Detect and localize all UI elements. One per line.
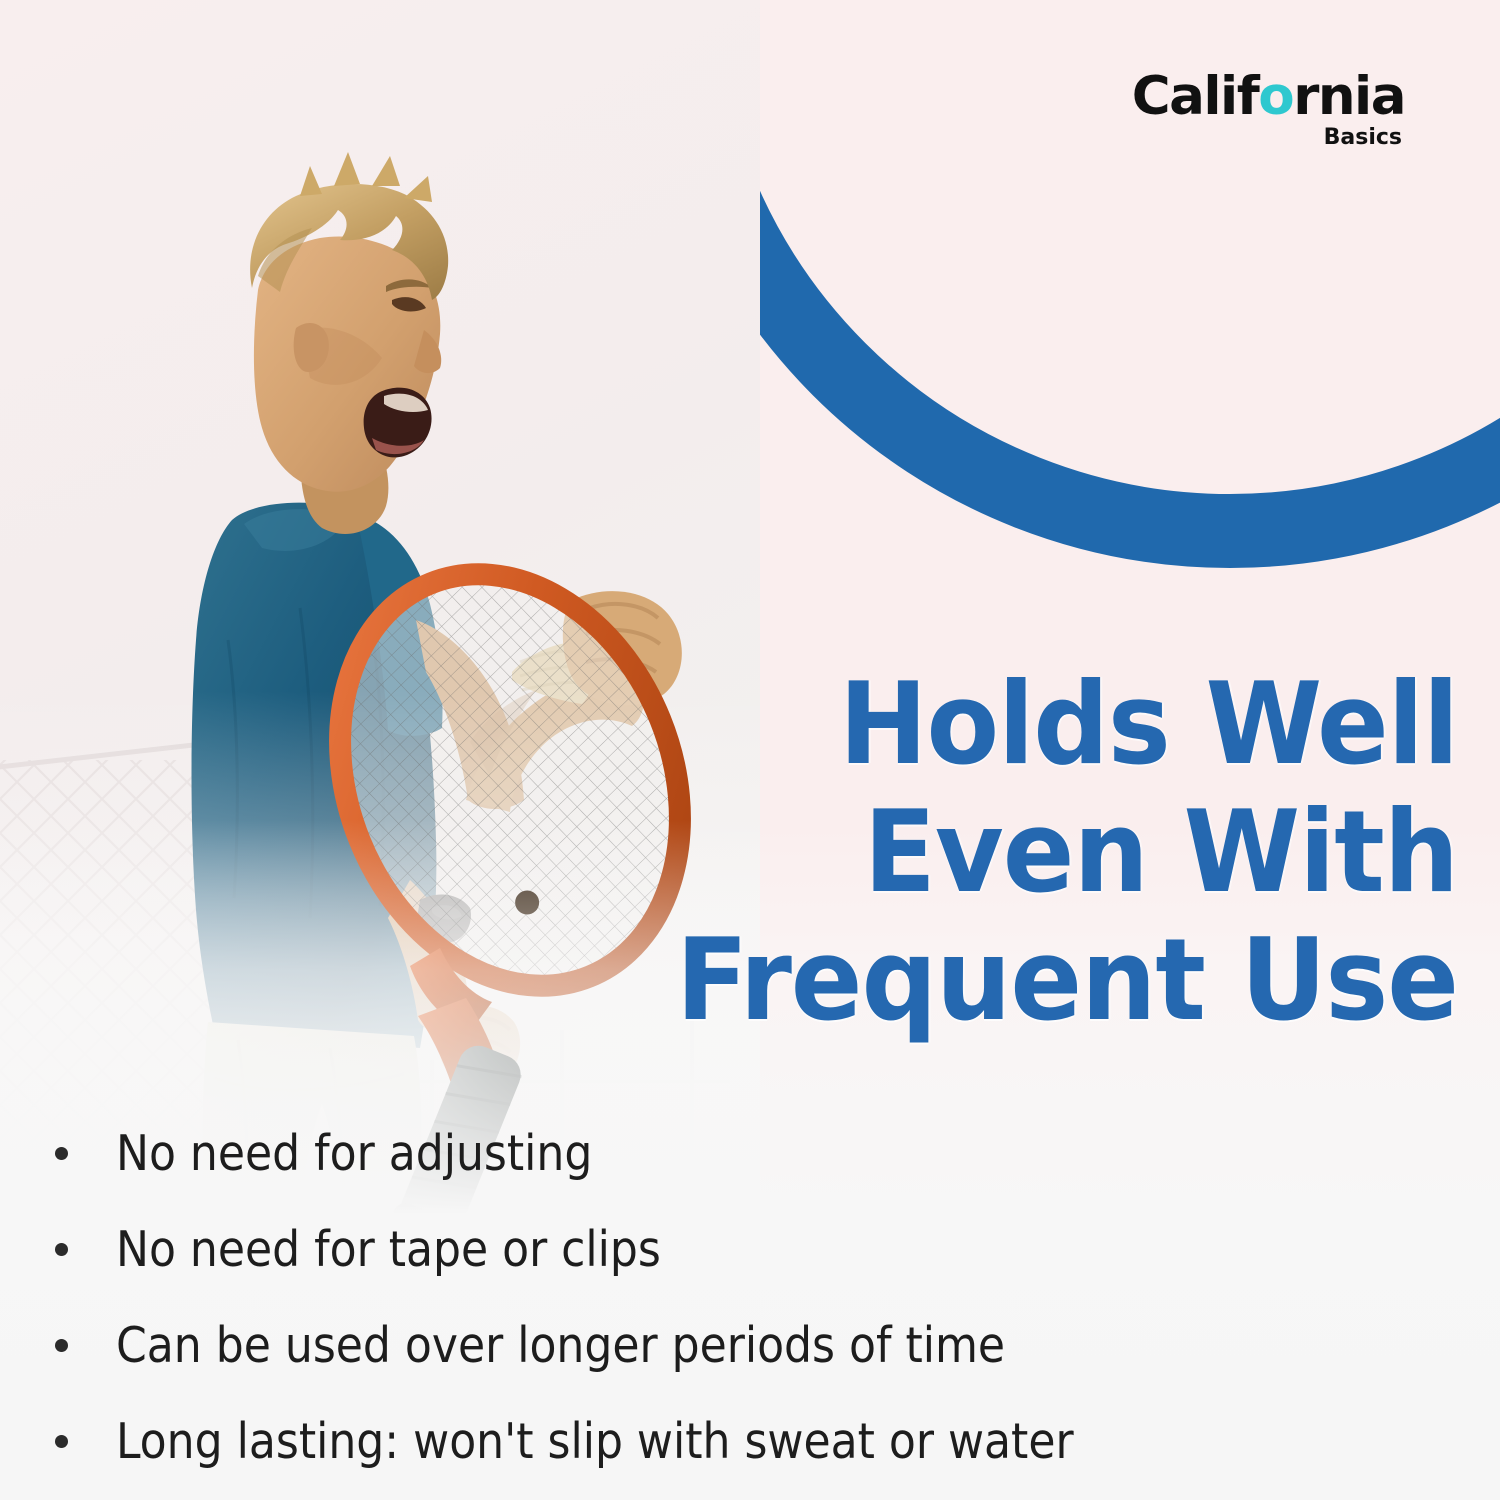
promo-image-canvas: California Basics Holds Well Even With F… xyxy=(0,0,1500,1500)
brand-subtitle: Basics xyxy=(1132,127,1402,149)
bullet-text: Can be used over longer periods of time xyxy=(116,1320,1005,1372)
brand-name: California xyxy=(1132,70,1405,123)
brand-name-part2: rnia xyxy=(1293,66,1405,127)
bullet-text: Long lasting: won't slip with sweat or w… xyxy=(116,1416,1074,1468)
bullet-dot-icon xyxy=(55,1435,68,1448)
list-item: Long lasting: won't slip with sweat or w… xyxy=(55,1416,1455,1468)
bullet-dot-icon xyxy=(55,1243,68,1256)
headline: Holds Well Even With Frequent Use xyxy=(458,660,1458,1044)
list-item: No need for tape or clips xyxy=(55,1224,1455,1276)
bullet-text: No need for adjusting xyxy=(116,1128,592,1180)
brand-name-o-accent: o xyxy=(1258,66,1293,127)
headline-line-3: Frequent Use xyxy=(418,916,1458,1044)
headline-line-1: Holds Well xyxy=(418,660,1458,788)
bullet-dot-icon xyxy=(55,1339,68,1352)
headline-line-2: Even With xyxy=(418,788,1458,916)
brand-name-part1: Calif xyxy=(1132,66,1259,127)
bullet-dot-icon xyxy=(55,1147,68,1160)
list-item: No need for adjusting xyxy=(55,1128,1455,1180)
bullet-text: No need for tape or clips xyxy=(116,1224,661,1276)
brand-logo: California Basics xyxy=(1132,70,1405,149)
list-item: Can be used over longer periods of time xyxy=(55,1320,1455,1372)
feature-bullet-list: No need for adjusting No need for tape o… xyxy=(55,1128,1455,1468)
